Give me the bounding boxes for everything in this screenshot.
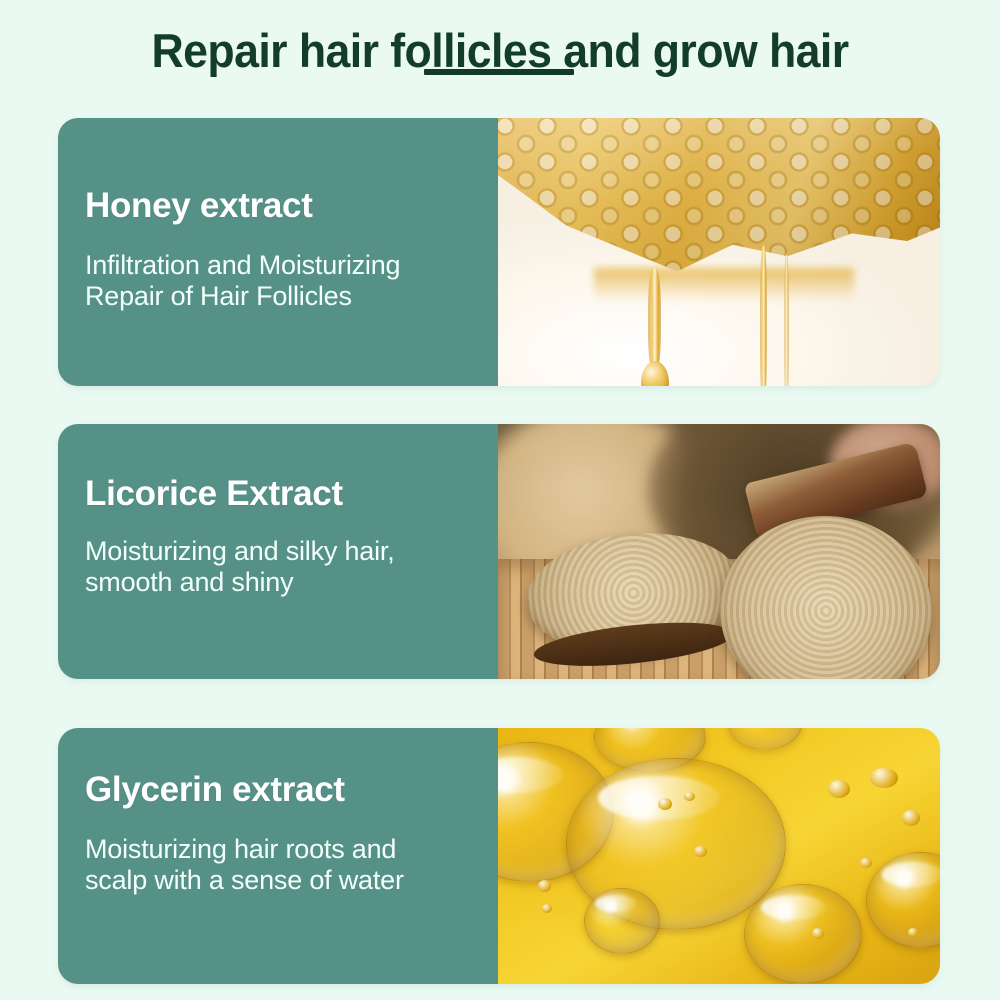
card-subtitle-line: Moisturizing hair roots and [85,834,404,865]
card-text-pane: Honey extract Infiltration and Moisturiz… [58,118,498,386]
page-title: Repair hair follicles and grow hair [25,26,975,75]
ingredient-card-glycerin: Glycerin extract Moisturizing hair roots… [58,728,940,984]
honeycomb-dripping-honey-photo [498,118,940,386]
card-subtitle: Moisturizing hair roots and scalp with a… [85,834,404,896]
oil-micro-droplet [870,768,898,788]
ingredient-card-licorice: Licorice Extract Moisturizing and silky … [58,424,940,679]
card-subtitle-line: Infiltration and Moisturizing [85,250,400,281]
card-heading: Glycerin extract [85,770,345,810]
honey-drip-strand [648,268,661,373]
oil-micro-droplet [860,858,872,868]
card-text-pane: Glycerin extract Moisturizing hair roots… [58,728,498,984]
honey-pool [594,268,854,302]
card-text-pane: Licorice Extract Moisturizing and silky … [58,424,498,679]
oil-micro-droplet [828,780,850,798]
oil-micro-droplet [684,792,695,801]
oil-micro-droplet [694,846,707,857]
card-heading: Honey extract [85,186,313,226]
card-subtitle-line: Repair of Hair Follicles [85,281,400,312]
oil-droplet [744,884,862,984]
oil-micro-droplet [812,928,824,939]
oil-micro-droplet [538,880,551,892]
oil-micro-droplet [908,928,918,937]
page-title-block: Repair hair follicles and grow hair [0,26,1000,75]
oil-micro-droplet [658,798,672,810]
licorice-root-slices-photo [498,424,940,679]
card-subtitle: Moisturizing and silky hair, smooth and … [85,536,395,598]
card-subtitle-line: scalp with a sense of water [85,865,404,896]
title-underline-accent [424,69,574,75]
card-subtitle-line: smooth and shiny [85,567,395,598]
card-heading: Licorice Extract [85,474,343,514]
honey-drip-strand [760,246,767,386]
promo-infographic: Repair hair follicles and grow hair Hone… [0,0,1000,1000]
ingredient-card-honey: Honey extract Infiltration and Moisturiz… [58,118,940,386]
card-subtitle-line: Moisturizing and silky hair, [85,536,395,567]
card-subtitle: Infiltration and Moisturizing Repair of … [85,250,400,312]
oil-droplet [584,888,660,954]
honey-drip-strand [784,254,789,386]
glycerin-oil-droplets-photo [498,728,940,984]
oil-micro-droplet [902,810,920,826]
oil-micro-droplet [542,904,552,913]
